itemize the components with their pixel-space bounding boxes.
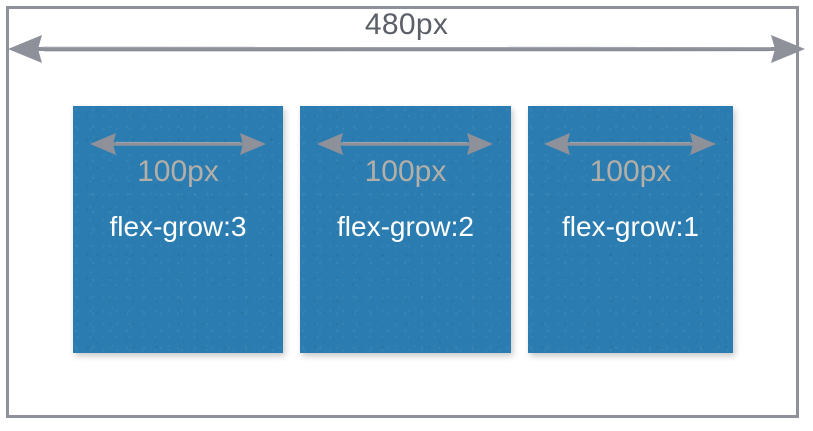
flexbox-diagram: 480px (0, 0, 813, 431)
flex-item-2[interactable]: 100px flex-grow:2 (300, 106, 511, 353)
item-1-size-label: 100px (73, 154, 283, 190)
item-1-grow-label: flex-grow:3 (73, 210, 283, 244)
container-width-arrow (8, 30, 805, 68)
item-3-size-label: 100px (528, 154, 733, 190)
item-3-grow-label: flex-grow:1 (528, 210, 733, 244)
item-2-grow-label: flex-grow:2 (300, 210, 511, 244)
flex-item-3[interactable]: 100px flex-grow:1 (528, 106, 733, 353)
flex-item-1[interactable]: 100px flex-grow:3 (73, 106, 283, 353)
double-arrow-icon (8, 30, 805, 68)
item-2-size-label: 100px (300, 154, 511, 190)
flex-items-row: 100px flex-grow:3 100px flex-grow:2 (73, 106, 733, 353)
